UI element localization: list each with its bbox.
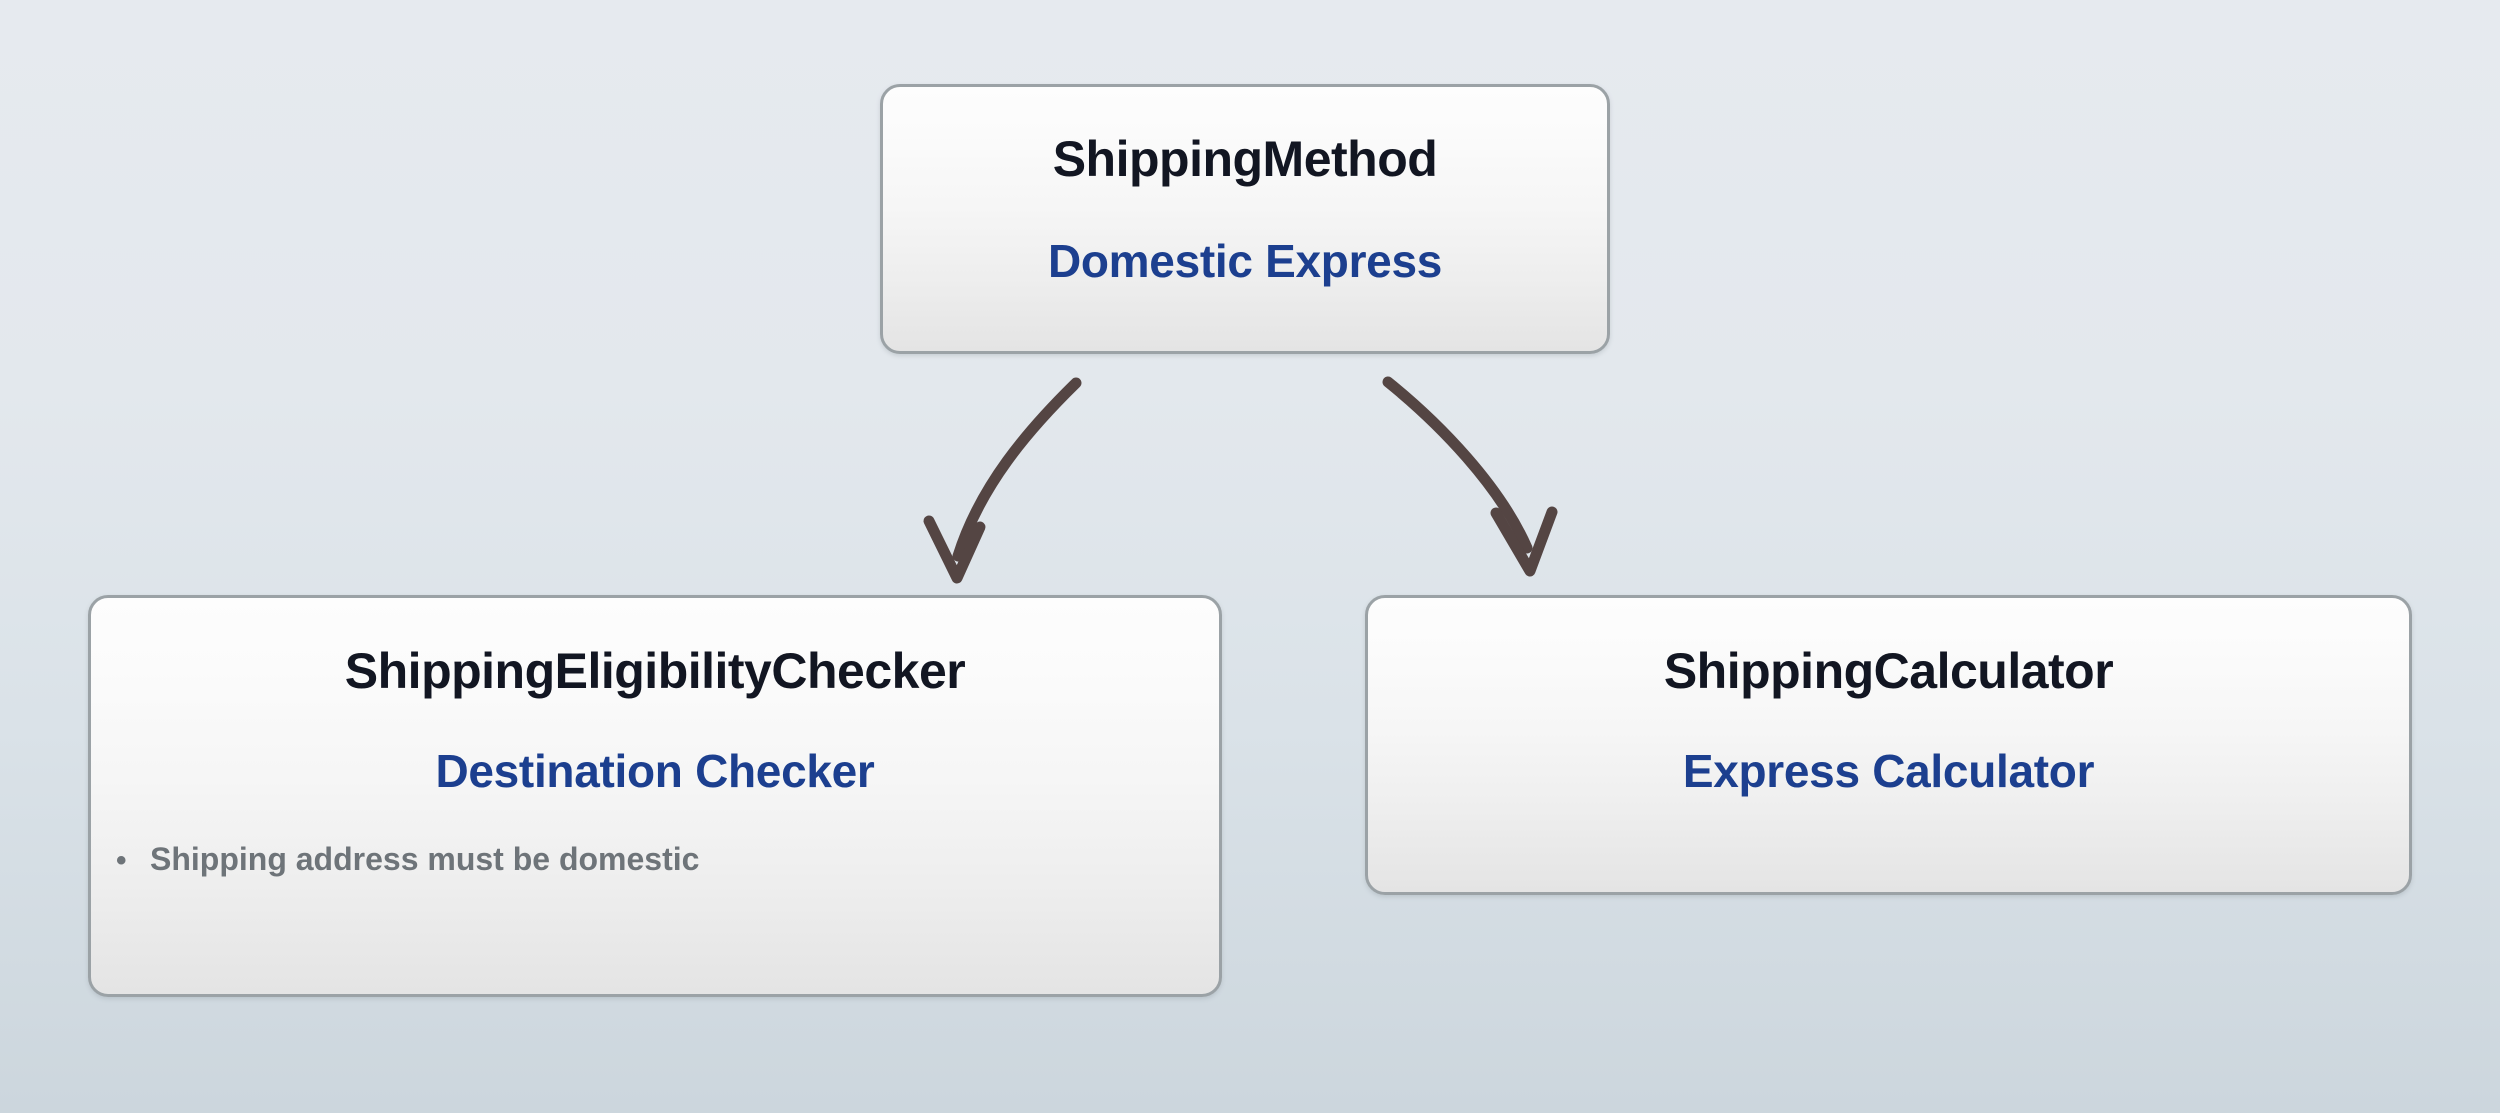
node-subtitle: Domestic Express xyxy=(1048,238,1442,284)
node-rule-list: • Shipping address must be domestic xyxy=(88,842,1222,877)
node-title: ShippingMethod xyxy=(1053,134,1438,184)
node-rule-text: Shipping address must be domestic xyxy=(150,842,699,877)
list-item: • Shipping address must be domestic xyxy=(116,842,1222,877)
node-shipping-eligibility-checker[interactable]: ShippingEligibilityChecker Destination C… xyxy=(88,595,1222,997)
node-subtitle: Destination Checker xyxy=(435,748,874,794)
diagram-canvas: ShippingMethod Domestic Express Shipping… xyxy=(0,0,2500,1113)
node-shipping-calculator[interactable]: ShippingCalculator Express Calculator xyxy=(1365,595,2412,895)
node-title: ShippingCalculator xyxy=(1664,646,2113,696)
edge-method-to-calculator-arrow xyxy=(1388,382,1552,571)
node-subtitle: Express Calculator xyxy=(1683,748,2094,794)
bullet-icon: • xyxy=(116,844,150,877)
node-shipping-method[interactable]: ShippingMethod Domestic Express xyxy=(880,84,1610,354)
edge-method-to-checker-arrow xyxy=(929,383,1076,578)
node-title: ShippingEligibilityChecker xyxy=(345,646,965,696)
